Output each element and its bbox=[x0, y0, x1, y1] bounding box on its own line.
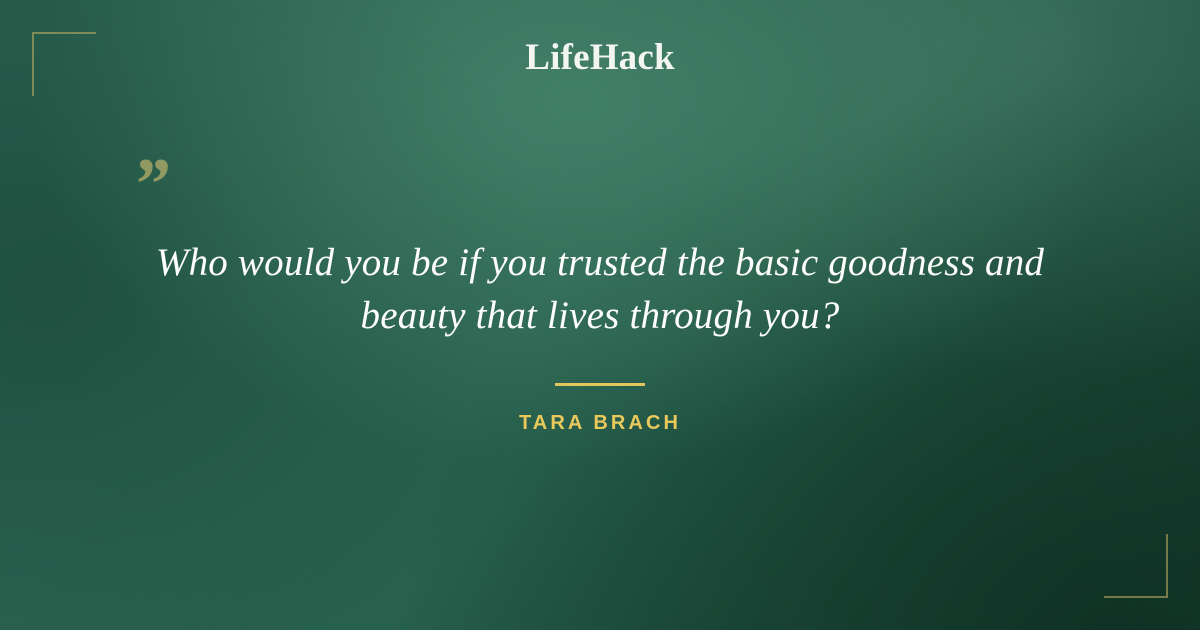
corner-bracket-bottom-right-icon bbox=[1104, 534, 1168, 598]
author-name: TARA BRACH bbox=[519, 412, 681, 435]
quote-text: Who would you be if you trusted the basi… bbox=[130, 236, 1070, 343]
quote-card: LifeHack ” Who would you be if you trust… bbox=[0, 0, 1200, 630]
author-block: TARA BRACH bbox=[0, 412, 1200, 435]
brand-name: LifeHack bbox=[525, 36, 675, 79]
quotation-mark-icon: ” bbox=[132, 148, 169, 222]
brand-logo: LifeHack bbox=[0, 36, 1200, 79]
quote-block: Who would you be if you trusted the basi… bbox=[130, 236, 1070, 343]
divider-rule bbox=[555, 383, 645, 386]
